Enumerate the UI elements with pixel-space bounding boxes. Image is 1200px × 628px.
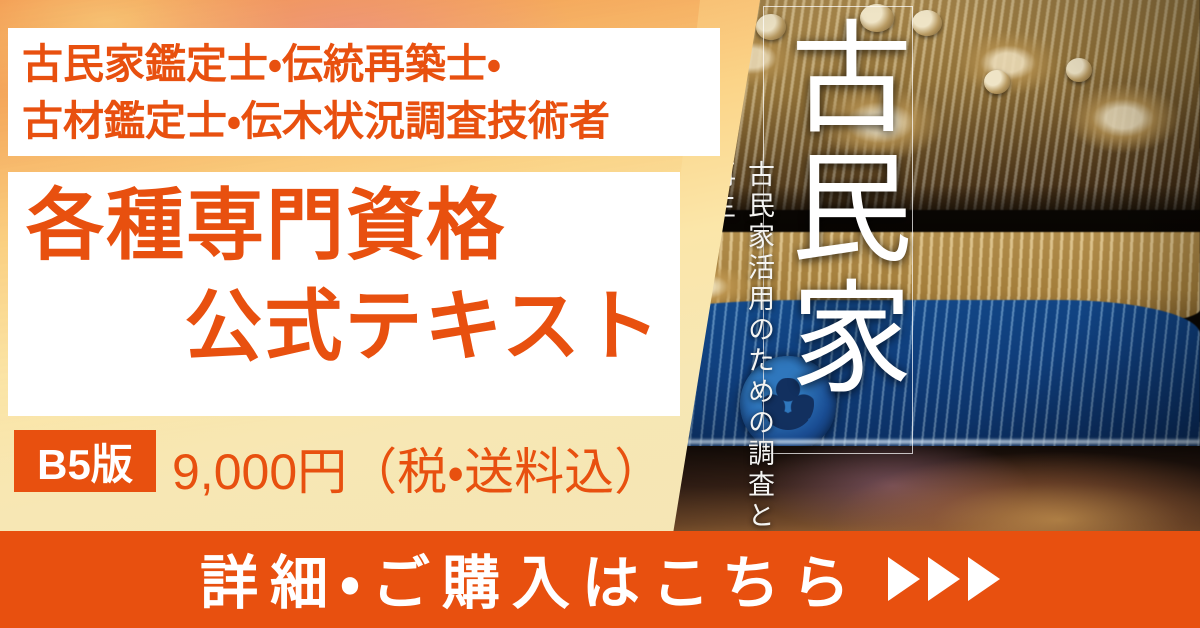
triangle-right-icon [928, 557, 960, 601]
qualifications-heading-line1: 古民家鑑定士・伝統再築士・ [22, 36, 722, 93]
page-title-line2: 公式テキスト [18, 286, 678, 367]
triangle-right-icon [888, 557, 920, 601]
promo-banner: 伝統構法 古民家 古民家活用のための調査と再生 古民家鑑定士・伝統再築士・ 古材… [0, 0, 1200, 628]
qualifications-heading: 古民家鑑定士・伝統再築士・ 古材鑑定士・伝木状況調査技術者 [22, 36, 722, 149]
cover-title: 古民家 [765, 14, 911, 404]
qualifications-heading-line2: 古材鑑定士・伝木状況調査技術者 [22, 93, 722, 150]
page-title-line1: 各種専門資格 [18, 186, 678, 264]
price-text: 9,000円（税・送料込） [172, 432, 664, 504]
size-badge: B5版 [14, 430, 156, 492]
cta-arrows [888, 557, 1000, 601]
triangle-right-icon [968, 557, 1000, 601]
cta-label: 詳細・ご購入はこちら [200, 536, 862, 620]
page-title: 各種専門資格 公式テキスト [18, 186, 678, 367]
cta-bar[interactable]: 詳細・ご購入はこちら [0, 531, 1200, 628]
